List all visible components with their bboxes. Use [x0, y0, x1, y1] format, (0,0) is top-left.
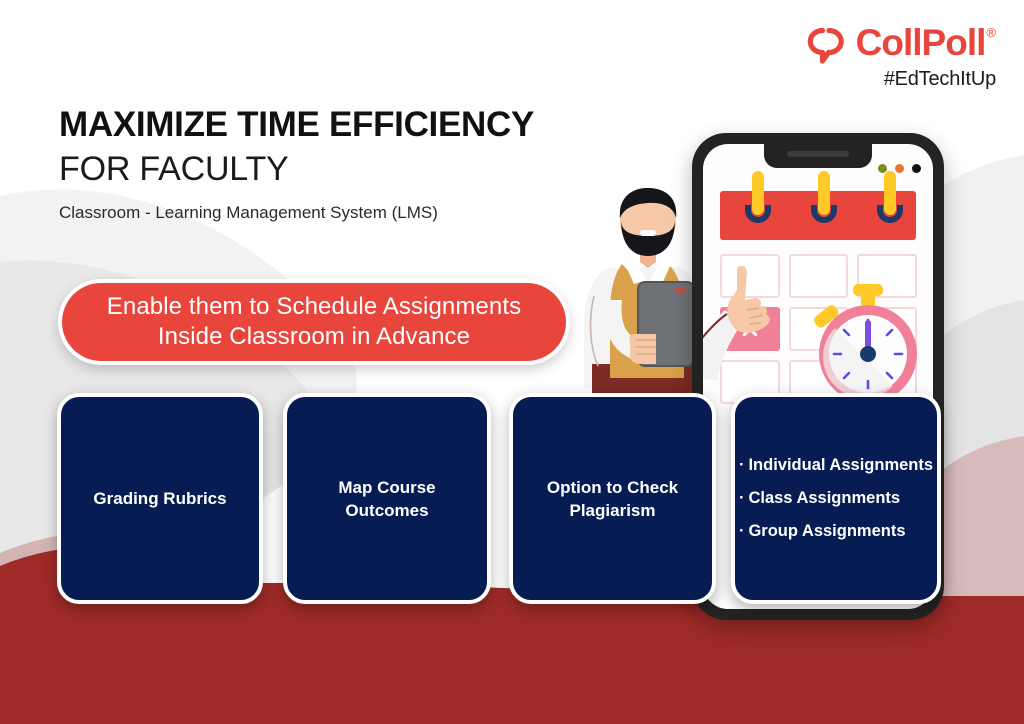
feature-card-list: ·Individual Assignments ·Class Assignmen… — [725, 449, 947, 548]
feature-card-map-course-outcomes[interactable]: Map Course Outcomes — [283, 393, 491, 604]
list-item: ·Class Assignments — [739, 482, 933, 515]
banner-line-1: Enable them to Schedule Assignments — [107, 292, 521, 322]
person-teeth — [640, 230, 656, 236]
feature-card-line: Plagiarism — [535, 499, 690, 522]
status-dot-black — [912, 164, 921, 173]
calendar-ring-base-3 — [877, 205, 903, 223]
feature-card-assignment-types[interactable]: ·Individual Assignments ·Class Assignmen… — [731, 393, 941, 604]
calendar-ring-base-2 — [811, 205, 837, 223]
logo-wordmark: CollPoll — [856, 24, 986, 62]
list-item-label: Individual Assignments — [748, 456, 933, 474]
list-item: ·Group Assignments — [739, 515, 933, 548]
feature-card-content: Map Course Outcomes — [326, 476, 447, 522]
highlight-banner: Enable them to Schedule Assignments Insi… — [62, 283, 566, 361]
page-title-primary: MAXIMIZE TIME EFFICIENCY — [59, 104, 534, 146]
list-item-label: Group Assignments — [748, 522, 905, 540]
feature-card-check-plagiarism[interactable]: Option to Check Plagiarism — [509, 393, 716, 604]
logo-row: CollPoll ® — [806, 24, 996, 65]
page-subtitle: Classroom - Learning Management System (… — [59, 203, 534, 223]
person-hand — [629, 334, 656, 364]
stopwatch-pivot — [860, 346, 876, 362]
stopwatch-icon — [809, 284, 927, 406]
stopwatch-stem — [861, 293, 875, 305]
feature-card-line: Option to Check — [535, 476, 690, 499]
feature-card-line: Map Course — [326, 476, 447, 499]
banner-line-2: Inside Classroom in Advance — [107, 322, 521, 352]
list-item-label: Class Assignments — [748, 489, 900, 507]
feature-card-line: Grading Rubrics — [81, 487, 238, 510]
tablet-camera — [674, 288, 687, 293]
status-dot-orange — [895, 164, 904, 173]
window-status-dots — [878, 164, 921, 173]
feature-card-content: Grading Rubrics — [81, 487, 238, 510]
bullet-icon: · — [739, 456, 745, 474]
list-item: ·Individual Assignments — [739, 449, 933, 482]
calendar-header — [720, 191, 916, 240]
brand-tagline: #EdTechItUp — [884, 68, 996, 91]
feature-card-line: Outcomes — [326, 499, 447, 522]
infographic-canvas: CollPoll ® #EdTechItUp MAXIMIZE TIME EFF… — [0, 0, 1024, 724]
phone-notch — [764, 144, 872, 168]
page-title-block: MAXIMIZE TIME EFFICIENCY FOR FACULTY Cla… — [59, 104, 534, 223]
pointing-hand-icon — [703, 260, 789, 380]
brand-logo[interactable]: CollPoll ® #EdTechItUp — [806, 24, 996, 91]
calendar-ring-base-1 — [745, 205, 771, 223]
bullet-icon: · — [739, 489, 745, 507]
collpoll-speech-bubble-icon — [806, 27, 852, 65]
phone-speaker — [787, 151, 849, 157]
banner-text: Enable them to Schedule Assignments Insi… — [107, 292, 521, 352]
bullet-icon: · — [739, 522, 745, 540]
registered-mark: ® — [986, 26, 996, 40]
feature-card-content: Option to Check Plagiarism — [535, 476, 690, 522]
feature-card-grading-rubrics[interactable]: Grading Rubrics — [57, 393, 263, 604]
page-title-secondary: FOR FACULTY — [59, 148, 534, 190]
hand-shape — [727, 266, 769, 333]
